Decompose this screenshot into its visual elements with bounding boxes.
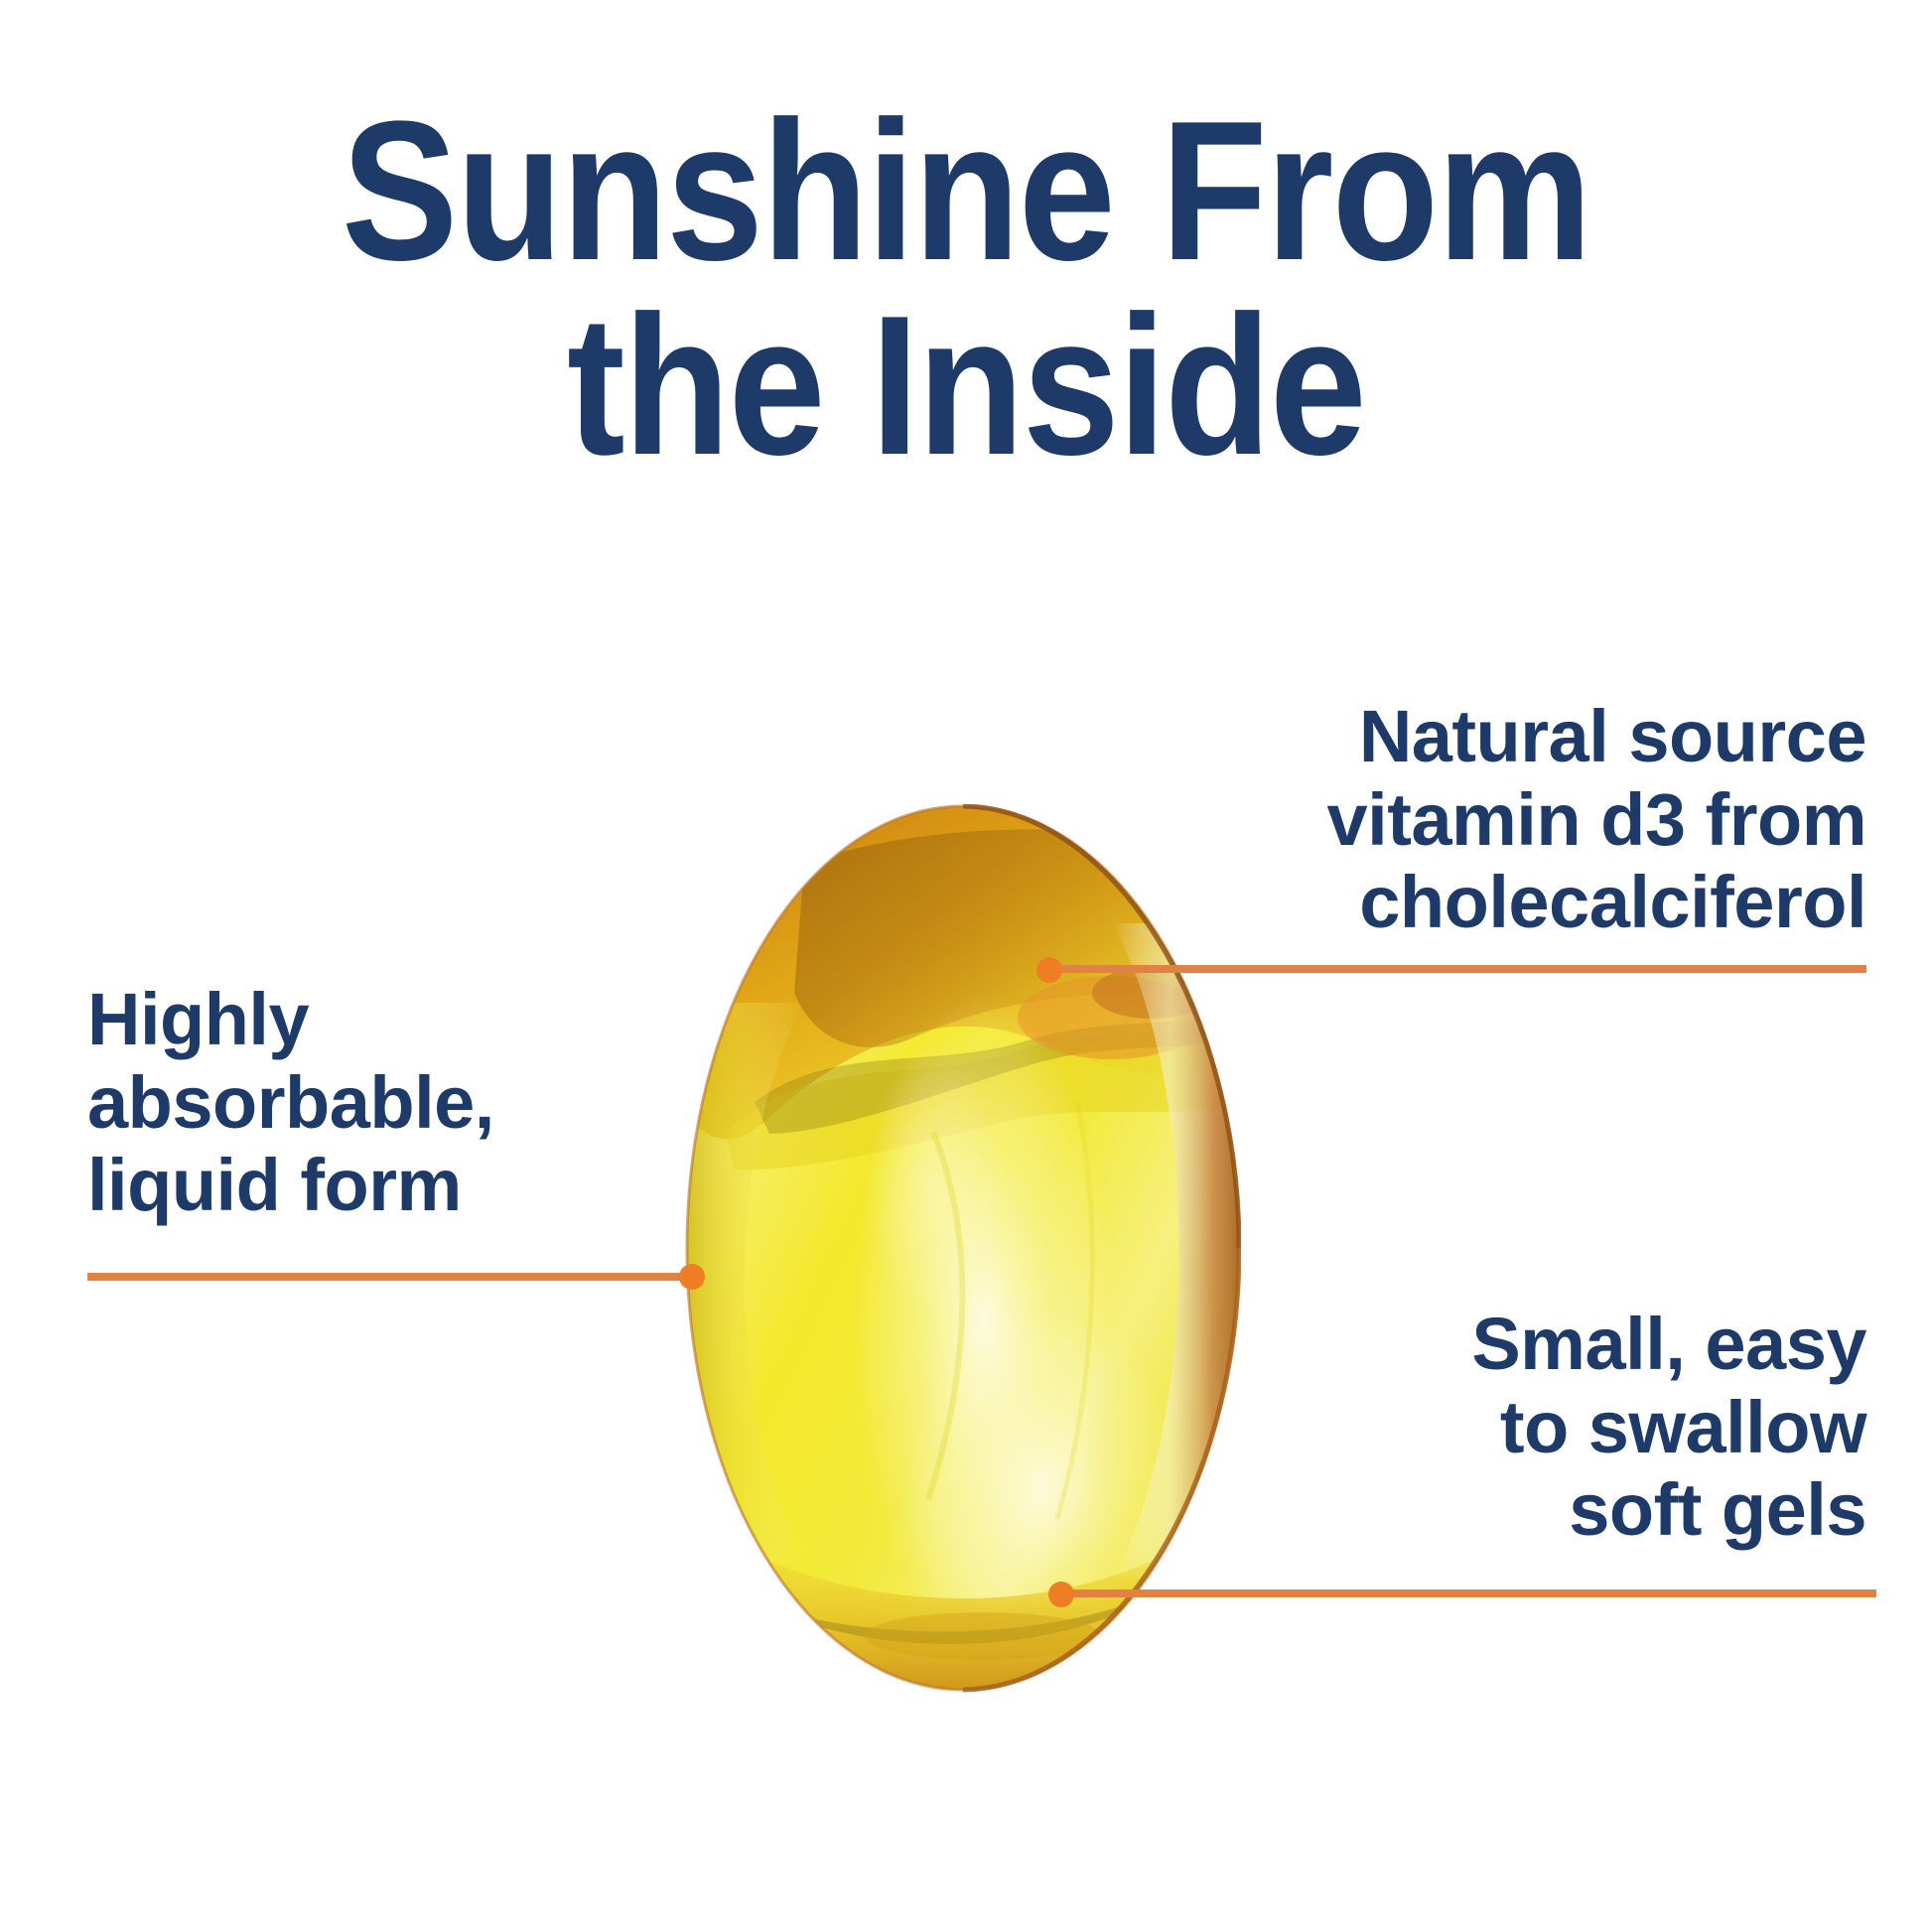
vitamin-d3-softgel-image [685,804,1241,1693]
leader-line-small-easy-swallow [1062,1589,1876,1597]
leader-line-highly-absorbable [87,1273,691,1281]
leader-line-natural-source [1050,965,1866,973]
callout-natural-source: Natural source vitamin d3 from cholecalc… [1251,695,1866,944]
callout-small-easy-swallow: Small, easy to swallow soft gels [1251,1303,1866,1552]
leader-dot-natural-source [1036,957,1062,983]
infographic-canvas: Sunshine From the Inside [0,0,1932,1932]
page-title: Sunshine From the Inside [116,94,1816,483]
callout-highly-absorbable: Highly absorbable, liquid form [87,978,643,1227]
leader-dot-small-easy-swallow [1048,1582,1074,1607]
leader-dot-highly-absorbable [679,1264,705,1290]
